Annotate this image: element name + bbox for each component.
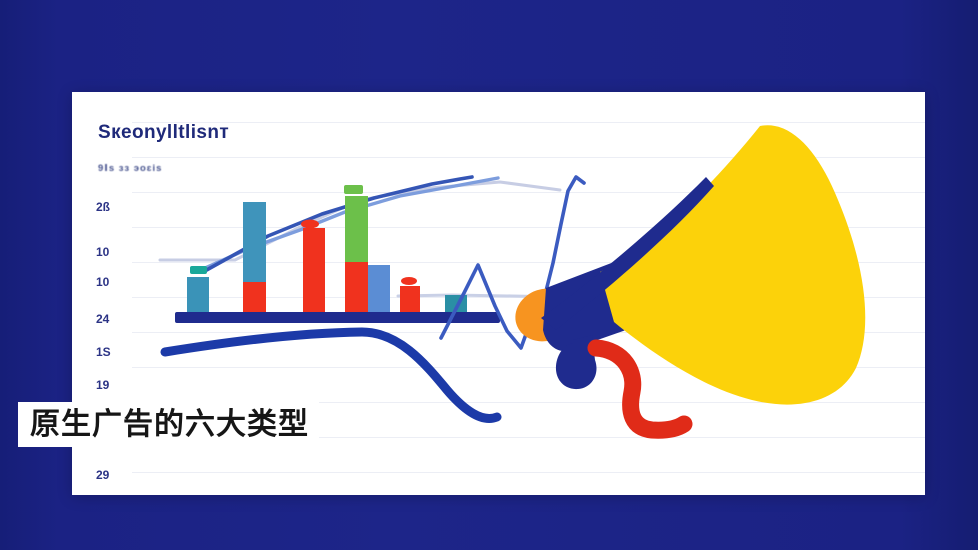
megaphone-cone bbox=[600, 125, 865, 404]
headline-text: 原生广告的六大类型 bbox=[30, 410, 309, 440]
megaphone-illustration bbox=[0, 0, 978, 550]
slide-canvas: Sкeonylltlisnт 9Ⅰs зз эоɛis 2ß 10 10 24 … bbox=[0, 0, 978, 550]
headline-banner: 原生广告的六大类型 bbox=[18, 402, 319, 447]
